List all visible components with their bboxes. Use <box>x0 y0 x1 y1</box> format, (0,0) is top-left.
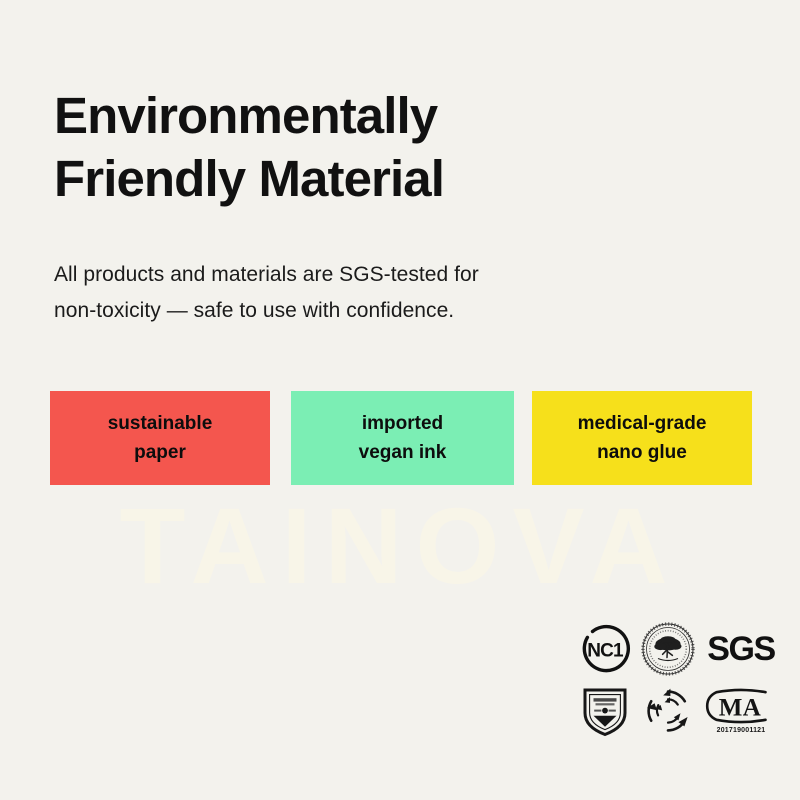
shield-chevron-icon <box>582 685 628 737</box>
material-chip-imported-vegan-ink: imported vegan ink <box>291 391 514 485</box>
certification-badge-grid: NC1 SGS <box>574 618 782 742</box>
cma-certificate-number: 201719001121 <box>717 727 766 735</box>
certification-badge-tree-seal <box>636 618 700 680</box>
material-chip-medical-grade-nano-glue: medical-grade nano glue <box>532 391 752 485</box>
certification-badge-recycling <box>636 680 700 742</box>
tree-seal-icon <box>641 622 695 676</box>
certification-badge-sgs: SGS <box>700 618 782 680</box>
material-chip-row: sustainable paper imported vegan ink med… <box>50 391 752 485</box>
material-chip-label-line-2: vegan ink <box>359 438 447 467</box>
material-chip-label-line-1: medical-grade <box>578 409 707 438</box>
brand-watermark: TAINOVA <box>0 487 800 605</box>
material-chip-label-line-2: paper <box>134 438 186 467</box>
page-title-line-1: Environmentally <box>54 84 754 147</box>
certification-badge-cma: MA 201719001121 <box>700 680 782 742</box>
page-description: All products and materials are SGS-teste… <box>54 257 674 329</box>
page-title: Environmentally Friendly Material <box>54 84 754 210</box>
cma-mark-icon: MA 201719001121 <box>704 687 778 735</box>
nc1-circle-icon: NC1 <box>579 623 631 675</box>
material-chip-label-line-1: sustainable <box>108 409 213 438</box>
sgs-wordmark-icon: SGS <box>707 632 775 666</box>
certification-badge-shield <box>574 680 636 742</box>
material-chip-sustainable-paper: sustainable paper <box>50 391 270 485</box>
page-description-line-1: All products and materials are SGS-teste… <box>54 257 674 293</box>
svg-text:NC1: NC1 <box>587 640 624 661</box>
page-title-line-2: Friendly Material <box>54 147 754 210</box>
poster-canvas: TAINOVA Environmentally Friendly Materia… <box>0 0 800 800</box>
material-chip-label-line-2: nano glue <box>597 438 687 467</box>
cma-outline-icon: MA <box>704 687 778 725</box>
svg-text:MA: MA <box>719 695 761 722</box>
certification-badge-nc1: NC1 <box>574 618 636 680</box>
page-description-line-2: non-toxicity — safe to use with confiden… <box>54 293 674 329</box>
recycling-arrows-icon <box>643 686 693 736</box>
material-chip-label-line-1: imported <box>362 409 443 438</box>
